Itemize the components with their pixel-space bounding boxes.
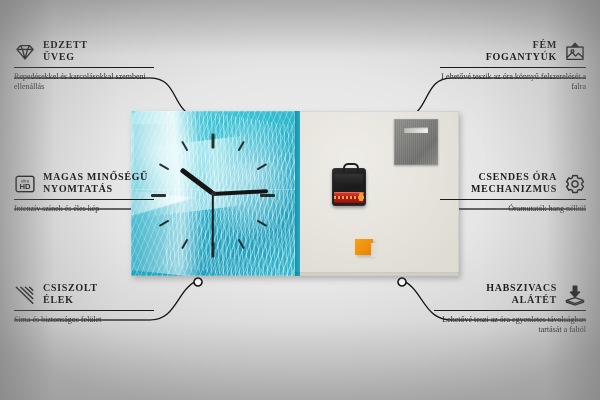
callout-title: EDZETTÜVEG — [43, 40, 88, 64]
callout-header: CSISZOLTÉLEK — [14, 283, 154, 307]
callout-divider — [14, 67, 154, 68]
callout-description: Lehetővé teszi az óra egyenletes távolsá… — [434, 315, 586, 335]
callout-description: Repedésekkel és karcolásokkal szembeni e… — [14, 72, 154, 92]
callout-title: HABSZIVACSALÁTÉT — [486, 283, 557, 307]
clock-face-front — [131, 111, 295, 276]
callout-header: HABSZIVACSALÁTÉT — [434, 283, 586, 307]
callout-header: CSENDES ÓRAMECHANIZMUS — [440, 172, 586, 196]
clock-mechanism-box — [332, 168, 366, 206]
callout-title: MAGAS MINŐSÉGŰNYOMTATÁS — [43, 172, 148, 196]
back-bottom-edge — [295, 272, 459, 276]
mechanism-housing — [335, 174, 363, 185]
hanging-frame-icon — [564, 41, 586, 63]
callout-polished-edges: CSISZOLTÉLEK Sima és biztonságos felület — [14, 283, 154, 325]
metal-hanger-plate — [394, 119, 438, 165]
infographic-canvas: EDZETTÜVEG Repedésekkel és karcolásokkal… — [0, 0, 600, 400]
clock-back-panel — [295, 111, 459, 276]
ultra-hd-icon: ultra HD — [14, 173, 36, 195]
metal-grain — [394, 119, 438, 165]
panel-seam-1 — [167, 111, 168, 276]
callout-title: CSISZOLTÉLEK — [43, 283, 98, 307]
leader-dot-foam — [398, 278, 406, 286]
leader-dot-edges — [194, 278, 202, 286]
mechanism-hanger-loop — [343, 163, 359, 173]
callout-tempered-glass: EDZETTÜVEG Repedésekkel és karcolásokkal… — [14, 40, 154, 92]
feather-barbs-2 — [185, 149, 295, 276]
callout-metal-handles: FÉMFOGANTYÚK Lehetővé teszik az óra könn… — [440, 40, 586, 92]
callout-title: FÉMFOGANTYÚK — [486, 40, 557, 64]
hatched-edges-icon — [14, 284, 36, 306]
hour-hand — [180, 167, 215, 195]
callout-description: Sima és biztonságos felület — [14, 315, 154, 325]
callout-high-quality-print: ultra HD MAGAS MINŐSÉGŰNYOMTATÁS Intenzí… — [14, 172, 154, 214]
hanger-slot — [404, 127, 428, 133]
diamond-icon — [14, 41, 36, 63]
callout-description: Óramutatók hang nélkül — [440, 204, 586, 214]
callout-title: CSENDES ÓRAMECHANIZMUS — [471, 172, 557, 196]
foam-spacer-pad — [355, 239, 373, 255]
gear-icon — [564, 173, 586, 195]
product-image — [131, 111, 459, 276]
callout-divider — [434, 310, 586, 311]
callout-quiet-mechanism: CSENDES ÓRAMECHANIZMUS Óramutatók hang n… — [440, 172, 586, 214]
glass-edge-strip — [295, 111, 300, 276]
callout-divider — [440, 67, 586, 68]
battery-terminal — [359, 193, 363, 201]
callout-description: Lehetővé teszik az óra könnyű felszerelé… — [440, 72, 586, 92]
center-pin — [211, 191, 216, 196]
callout-divider — [14, 310, 154, 311]
callout-description: Intenzív színek és éles kép — [14, 204, 154, 214]
feather-streak-2 — [141, 127, 295, 218]
battery — [334, 192, 364, 203]
callout-foam-spacer: HABSZIVACSALÁTÉT Lehetővé teszi az óra e… — [434, 283, 586, 335]
hd-label: HD — [19, 182, 31, 191]
callout-header: FÉMFOGANTYÚK — [440, 40, 586, 64]
callout-divider — [440, 199, 586, 200]
callout-header: EDZETTÜVEG — [14, 40, 154, 64]
callout-header: ultra HD MAGAS MINŐSÉGŰNYOMTATÁS — [14, 172, 154, 196]
callout-divider — [14, 199, 154, 200]
press-pad-icon — [564, 284, 586, 306]
second-hand — [212, 194, 214, 246]
